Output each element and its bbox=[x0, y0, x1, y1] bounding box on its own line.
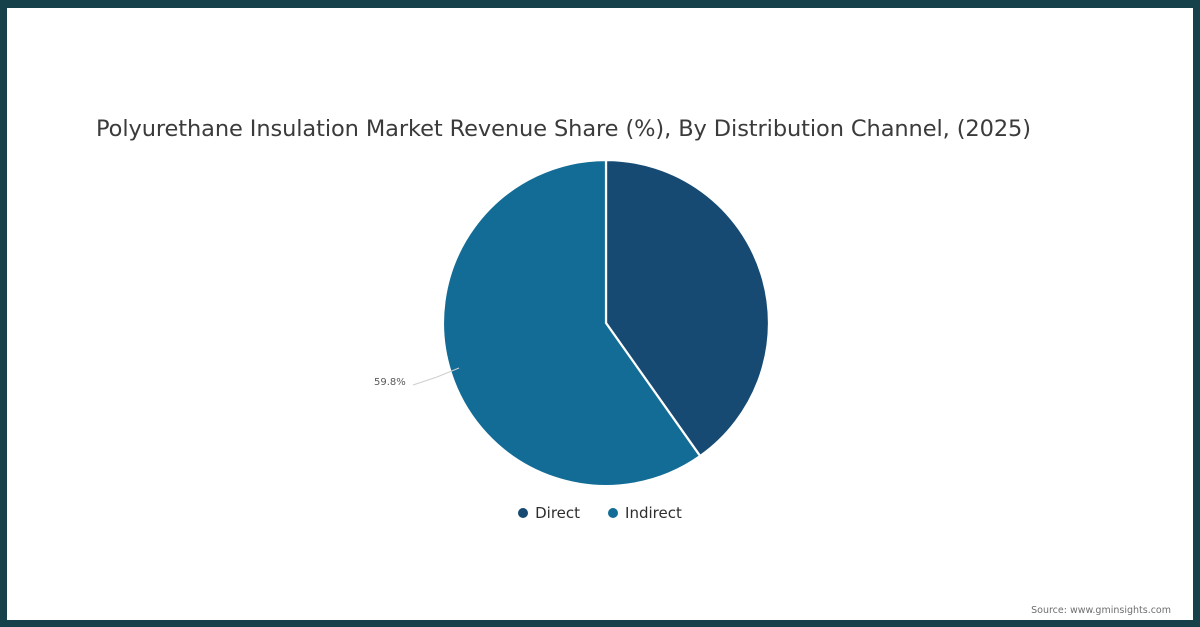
label-leader-line bbox=[407, 363, 467, 398]
chart-legend: Direct Indirect bbox=[7, 505, 1193, 521]
legend-swatch-indirect-icon bbox=[608, 508, 618, 518]
chart-canvas: Polyurethane Insulation Market Revenue S… bbox=[7, 8, 1193, 620]
legend-label-indirect: Indirect bbox=[625, 505, 682, 521]
legend-swatch-direct-icon bbox=[518, 508, 528, 518]
pie-chart bbox=[436, 153, 776, 493]
page-title: Polyurethane Insulation Market Revenue S… bbox=[96, 114, 1126, 144]
chart-page: Polyurethane Insulation Market Revenue S… bbox=[0, 0, 1200, 627]
legend-item-indirect[interactable]: Indirect bbox=[608, 505, 682, 521]
legend-item-direct[interactable]: Direct bbox=[518, 505, 580, 521]
pie-data-label-indirect: 59.8% bbox=[374, 377, 406, 388]
source-attribution: Source: www.gminsights.com bbox=[1031, 605, 1171, 616]
pie-svg bbox=[436, 153, 776, 493]
legend-label-direct: Direct bbox=[535, 505, 580, 521]
